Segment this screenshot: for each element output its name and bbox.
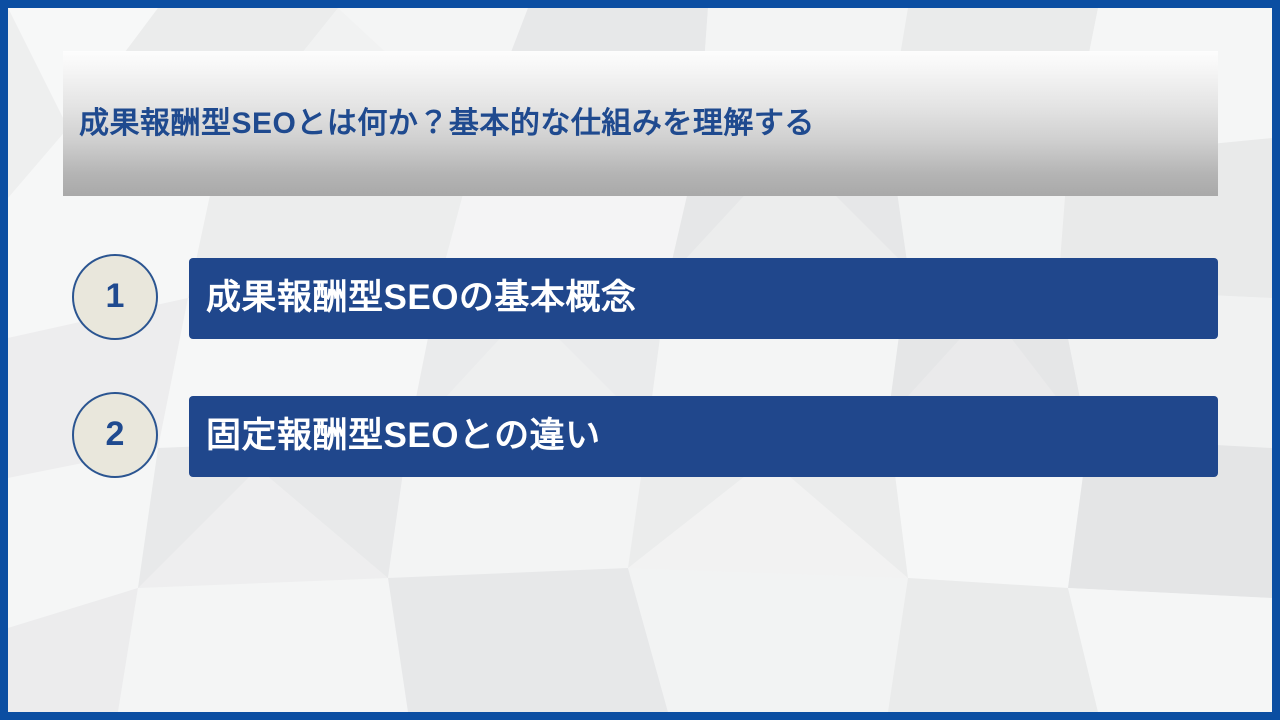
item-number-badge: 1: [72, 254, 158, 340]
item-number-badge: 2: [72, 392, 158, 478]
list-item[interactable]: 1 成果報酬型SEOの基本概念: [8, 250, 1272, 346]
slide-canvas: 成果報酬型SEOとは何か？基本的な仕組みを理解する 1 成果報酬型SEOの基本概…: [8, 8, 1272, 712]
item-bar[interactable]: 固定報酬型SEOとの違い: [189, 396, 1218, 477]
title-banner: 成果報酬型SEOとは何か？基本的な仕組みを理解する: [63, 51, 1218, 196]
item-label: 成果報酬型SEOの基本概念: [206, 279, 636, 318]
slide-root: 成果報酬型SEOとは何か？基本的な仕組みを理解する 1 成果報酬型SEOの基本概…: [0, 0, 1280, 720]
item-number-label: 2: [106, 417, 125, 451]
item-label: 固定報酬型SEOとの違い: [206, 417, 601, 456]
page-title: 成果報酬型SEOとは何か？基本的な仕組みを理解する: [79, 106, 815, 142]
item-bar[interactable]: 成果報酬型SEOの基本概念: [189, 258, 1218, 339]
list-item[interactable]: 2 固定報酬型SEOとの違い: [8, 388, 1272, 484]
item-number-label: 1: [106, 279, 125, 313]
